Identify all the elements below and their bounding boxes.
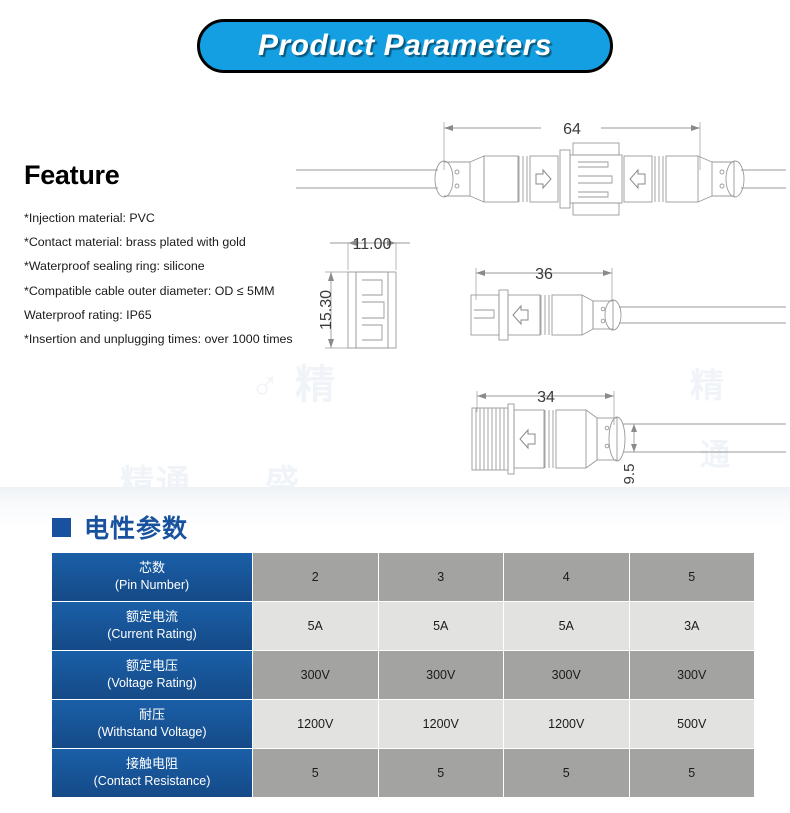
dimension-label-36: 36 [535,266,553,283]
section-title: 电性参数 [84,509,188,545]
table-row: 额定电流(Current Rating)5A5A5A3A [52,602,755,651]
table-cell: 5 [630,553,756,602]
drawing-female-connector [471,268,786,340]
drawing-male-connector [472,391,786,474]
feature-item: *Compatible cable outer diameter: OD ≤ 5… [24,279,334,303]
table-cell: 5A [253,602,379,651]
row-header-cn: 额定电流 [52,610,252,626]
row-header-cn: 额定电压 [52,659,252,675]
row-header-en: (Current Rating) [52,626,252,642]
table-cell: 1200V [504,700,630,749]
row-header-en: (Withstand Voltage) [52,724,252,740]
watermark-text: ♂ 精 [250,352,337,410]
table-row: 接触电阻(Contact Resistance)5555 [52,749,755,797]
table-cell: 300V [630,651,756,700]
dimension-label-9-5: 9.5 [621,464,638,485]
table-cell: 300V [253,651,379,700]
feature-heading: Feature [24,160,119,191]
table-row: 耐压(Withstand Voltage)1200V1200V1200V500V [52,700,755,749]
dimension-label-11: 11.00 [353,236,392,253]
table-cell: 5A [379,602,505,651]
table-cell: 5 [630,749,756,797]
table-row-header: 耐压(Withstand Voltage) [52,700,253,749]
banner-title: Product Parameters [258,29,552,63]
table-row: 芯数(Pin Number)2345 [52,553,755,602]
section-bullet-icon [52,518,71,537]
table-row-header: 接触电阻(Contact Resistance) [52,749,253,797]
table-cell: 300V [504,651,630,700]
electrical-parameters-table: 芯数(Pin Number)2345额定电流(Current Rating)5A… [52,553,755,797]
row-header-cn: 耐压 [52,708,252,724]
feature-item: *Insertion and unplugging times: over 10… [24,327,334,351]
section-header: 电性参数 [52,509,188,545]
table-cell: 4 [504,553,630,602]
table-row-header: 额定电流(Current Rating) [52,602,253,651]
feature-item: *Contact material: brass plated with gol… [24,230,334,254]
feature-list: *Injection material: PVC *Contact materi… [24,206,334,351]
table-row: 额定电压(Voltage Rating)300V300V300V300V [52,651,755,700]
row-header-en: (Voltage Rating) [52,675,252,691]
table-cell: 5 [379,749,505,797]
table-cell: 1200V [253,700,379,749]
product-parameters-banner: Product Parameters [197,19,613,73]
table-cell: 5A [504,602,630,651]
table-row-header: 额定电压(Voltage Rating) [52,651,253,700]
electrical-parameters-section: 电性参数 芯数(Pin Number)2345额定电流(Current Rati… [0,487,790,813]
watermark-text: 通 [700,430,732,474]
table-cell: 5 [504,749,630,797]
feature-item: *Waterproof sealing ring: silicone [24,254,334,278]
row-header-cn: 芯数 [52,561,252,577]
row-header-en: (Pin Number) [52,577,252,593]
table-cell: 3A [630,602,756,651]
table-cell: 5 [253,749,379,797]
row-header-en: (Contact Resistance) [52,773,252,789]
row-header-cn: 接触电阻 [52,757,252,773]
drawing-assembled-connector [296,122,786,215]
table-row-header: 芯数(Pin Number) [52,553,253,602]
table-cell: 1200V [379,700,505,749]
dimension-label-64: 64 [563,121,581,138]
table-cell: 3 [379,553,505,602]
watermark-text: 精 [690,358,726,407]
table-cell: 2 [253,553,379,602]
feature-item: *Injection material: PVC [24,206,334,230]
table-cell: 300V [379,651,505,700]
drawing-end-view [325,240,410,348]
feature-item: Waterproof rating: IP65 [24,303,334,327]
table-cell: 500V [630,700,756,749]
banner-pill: Product Parameters [197,19,613,73]
dimension-label-34: 34 [537,389,555,406]
